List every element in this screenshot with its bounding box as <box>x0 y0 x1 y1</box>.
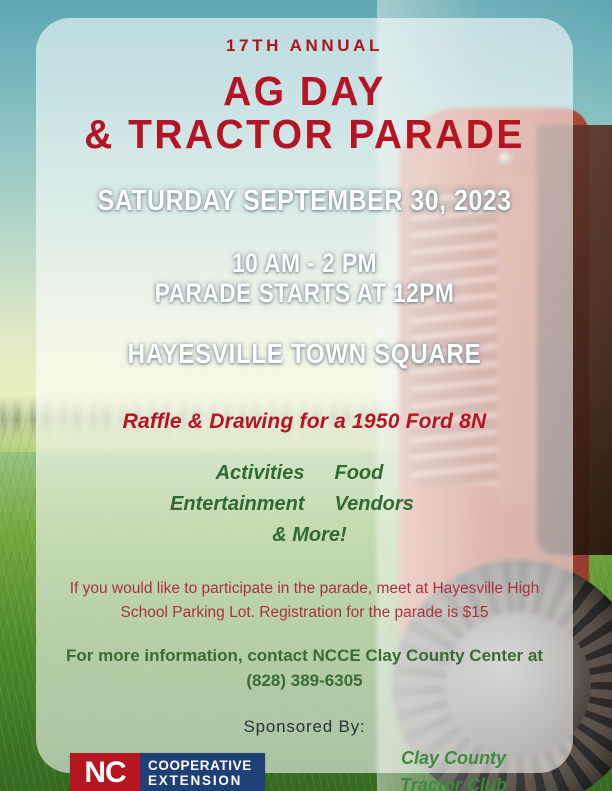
sponsored-by-label: Sponsored By: <box>36 717 573 737</box>
features-row-2: Entertainment Vendors <box>36 489 573 520</box>
feature-vendors: Vendors <box>305 489 513 520</box>
features-row-1: Activities Food <box>36 458 573 489</box>
parade-start-time: PARADE STARTS AT 12PM <box>79 278 530 308</box>
nc-logo-mark: NC <box>70 753 140 791</box>
features-list: Activities Food Entertainment Vendors & … <box>36 458 573 551</box>
nc-cooperative-extension-logo: NC COOPERATIVE EXTENSION <box>70 753 265 791</box>
feature-and-more: & More! <box>36 520 573 551</box>
nc-logo-wordmark: COOPERATIVE EXTENSION <box>140 753 265 791</box>
feature-activities: Activities <box>97 458 305 489</box>
event-date: SATURDAY SEPTEMBER 30, 2023 <box>74 185 536 218</box>
tractor-club-line-2: Tractor Club <box>366 772 541 791</box>
parade-participation-note: If you would like to participate in the … <box>70 577 540 624</box>
contact-info: For more information, contact NCCE Clay … <box>45 644 565 693</box>
poster: 17TH ANNUAL AG DAY & TRACTOR PARADE SATU… <box>0 0 612 791</box>
poster-content: 17TH ANNUAL AG DAY & TRACTOR PARADE SATU… <box>36 18 573 773</box>
nc-logo-word-cooperative: COOPERATIVE <box>148 758 252 773</box>
feature-entertainment: Entertainment <box>97 489 305 520</box>
event-time: 10 AM - 2 PM <box>79 248 530 278</box>
event-venue: HAYESVILLE TOWN SQUARE <box>74 338 536 370</box>
event-time-block: 10 AM - 2 PM PARADE STARTS AT 12PM <box>79 248 530 308</box>
tractor-club-sponsor: Clay County Tractor Club <box>366 745 541 791</box>
tractor-club-line-1: Clay County <box>366 745 541 772</box>
title-line-1: AG DAY <box>49 70 559 113</box>
kicker-text: 17TH ANNUAL <box>36 36 573 56</box>
sponsor-row: NC COOPERATIVE EXTENSION Clay County Tra… <box>36 753 573 791</box>
raffle-announcement: Raffle & Drawing for a 1950 Ford 8N <box>36 410 573 434</box>
title-line-2: & TRACTOR PARADE <box>49 113 559 156</box>
feature-food: Food <box>305 458 513 489</box>
nc-logo-word-extension: EXTENSION <box>148 773 242 788</box>
